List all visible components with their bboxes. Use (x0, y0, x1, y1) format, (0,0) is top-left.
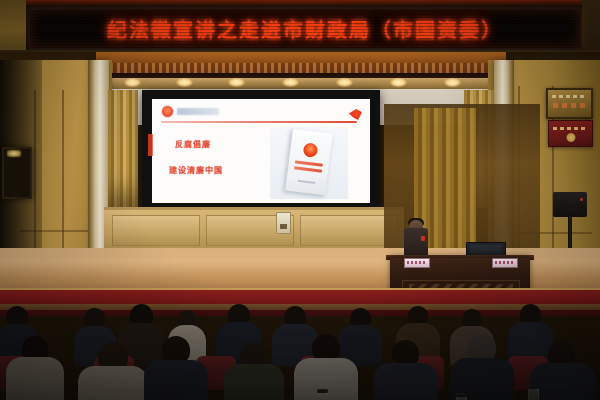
slide-heading-line-2: 建设清廉中国 (169, 165, 223, 176)
plaque-text-line (553, 127, 588, 130)
room-interior: 反腐倡廉 建设清廉中国 (0, 52, 600, 400)
audience-body (144, 360, 208, 400)
tea-cup (318, 392, 329, 400)
downlight-icon (336, 78, 353, 87)
downlight-icon (282, 78, 299, 87)
pa-power-led-icon (580, 198, 583, 201)
tea-cup-lid (317, 389, 328, 393)
party-badge-icon (421, 236, 425, 241)
led-glow-top (0, 0, 600, 6)
tea-cup-lid (527, 385, 538, 389)
national-emblem-icon (162, 106, 173, 117)
nameplate (404, 258, 430, 268)
downlight-icon (390, 78, 407, 87)
tea-cup (528, 388, 539, 400)
wainscot-panel (112, 215, 200, 246)
led-banner-text: 纪法微宣讲之走进市财政局（市国资委） (107, 14, 503, 43)
slide-heading-line-1: 反腐倡廉 (175, 139, 211, 150)
wall-outlet-plate (276, 212, 291, 234)
plaque-emblem-icon (566, 133, 575, 142)
audience-body (374, 363, 438, 400)
auditorium-photo: 纪法微宣讲之走进市财政局（市国资委） (0, 0, 600, 400)
slide-wordmark (177, 108, 219, 115)
downlight-icon (176, 78, 193, 87)
wall-plaque-gold (546, 88, 593, 119)
wall-plaque-red (548, 120, 593, 147)
audience-body (530, 363, 596, 400)
downlight-icon (228, 78, 245, 87)
booklet-title-line (295, 160, 323, 166)
slide-divider-rule (161, 121, 357, 123)
law-booklet-icon (284, 129, 332, 196)
red-ribbon-icon (349, 109, 362, 120)
pa-speaker-icon (553, 192, 587, 217)
ceiling-left-edge (0, 0, 26, 54)
stage-curtain-left (108, 90, 138, 208)
downlight-icon (124, 78, 141, 87)
audience-seating (0, 304, 600, 400)
audience-body (6, 357, 64, 400)
projection-screen: 反腐倡廉 建设清廉中国 (142, 90, 380, 212)
ceiling-right-edge (582, 0, 600, 54)
led-display-screen: 纪法微宣讲之走进市财政局（市国资委） (28, 7, 582, 50)
booklet-emblem-icon (303, 142, 319, 158)
stage-valance-curtain (96, 52, 506, 74)
audience-body (78, 366, 148, 400)
tea-cup-lid (455, 393, 466, 397)
led-banner-band: 纪法微宣讲之走进市财政局（市国资委） (0, 0, 600, 54)
downlight-icon (444, 78, 461, 87)
booklet-subtitle-line (298, 180, 316, 184)
audience-body (224, 364, 284, 400)
plaque-text-line (553, 103, 586, 108)
slide-booklet-image (270, 127, 348, 199)
plaque-text-line (552, 95, 587, 98)
slide-side-accent (148, 134, 153, 156)
booklet-title-line (294, 166, 322, 172)
nameplate (492, 258, 518, 268)
wall-lamp-icon (7, 150, 21, 157)
presentation-slide: 反腐倡廉 建设清廉中国 (152, 99, 370, 203)
